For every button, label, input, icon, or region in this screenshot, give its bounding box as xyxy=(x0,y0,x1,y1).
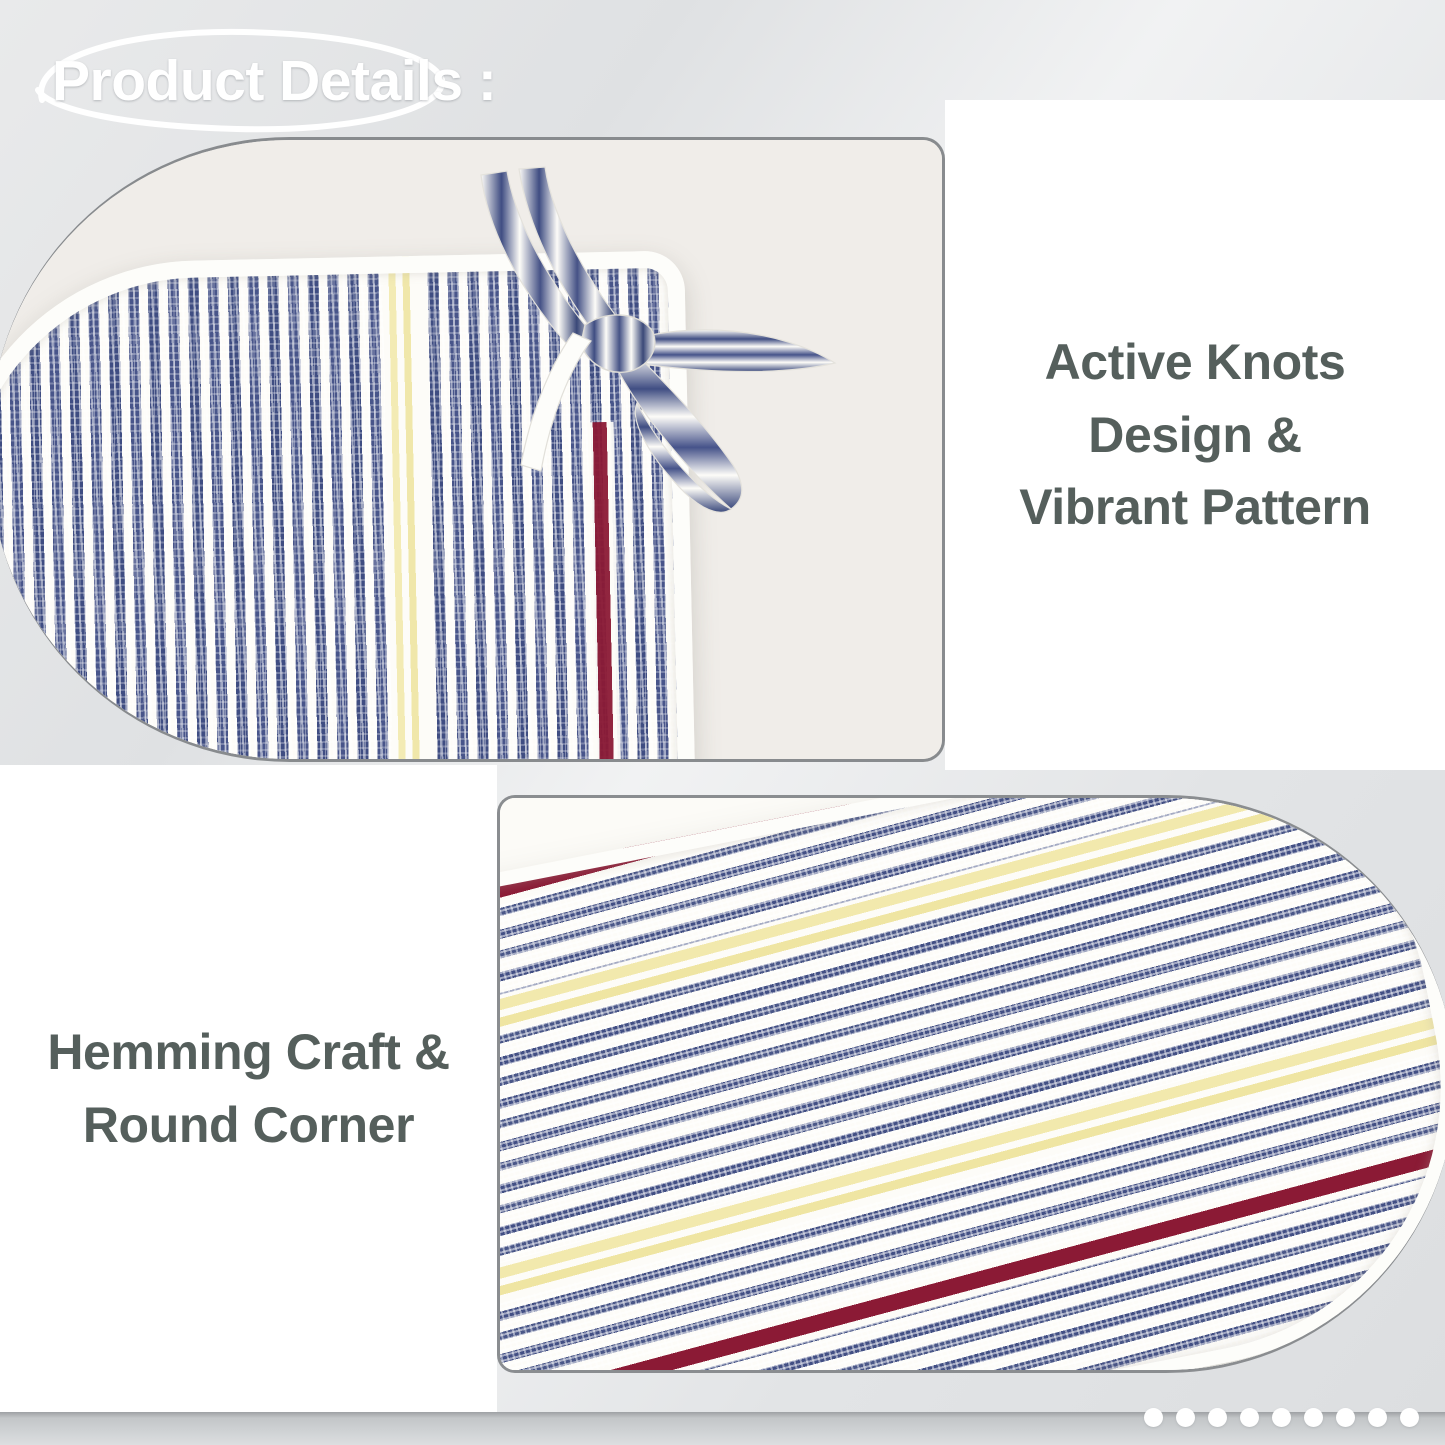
carousel-dot[interactable] xyxy=(1208,1408,1227,1427)
panel-knots-heading-line1: Active Knots Design & xyxy=(967,326,1423,471)
panel-corner-heading: Hemming Craft & Round Corner xyxy=(25,1016,471,1161)
carousel-dot[interactable] xyxy=(1240,1408,1259,1427)
carousel-dot[interactable] xyxy=(1272,1408,1291,1427)
cushion-angled-body xyxy=(497,795,1445,1373)
product-details-infographic: Product Details : xyxy=(0,0,1445,1445)
cushion-angled-view xyxy=(497,795,1445,1373)
panel-knots-heading: Active Knots Design & Vibrant Pattern xyxy=(945,326,1445,544)
carousel-dot[interactable] xyxy=(1304,1408,1323,1427)
carousel-dot[interactable] xyxy=(1336,1408,1355,1427)
carousel-dot[interactable] xyxy=(1368,1408,1387,1427)
photo-round-corner xyxy=(497,795,1445,1373)
panel-knots-heading-line2: Vibrant Pattern xyxy=(967,471,1423,544)
panel-active-knots: Active Knots Design & Vibrant Pattern xyxy=(945,100,1445,770)
photo-active-knots xyxy=(0,137,945,762)
fabric-tie-bow xyxy=(445,165,865,565)
page-title: Product Details : xyxy=(22,22,452,137)
panel-round-corner: Hemming Craft & Round Corner xyxy=(0,765,497,1412)
carousel-dot[interactable] xyxy=(1144,1408,1163,1427)
panel-corner-heading-line1: Hemming Craft & xyxy=(47,1016,449,1089)
carousel-dot-indicators[interactable] xyxy=(1144,1408,1419,1427)
carousel-dot[interactable] xyxy=(1176,1408,1195,1427)
carousel-dot[interactable] xyxy=(1400,1408,1419,1427)
page-title-text: Product Details : xyxy=(52,48,496,114)
panel-corner-heading-line2: Round Corner xyxy=(47,1089,449,1162)
